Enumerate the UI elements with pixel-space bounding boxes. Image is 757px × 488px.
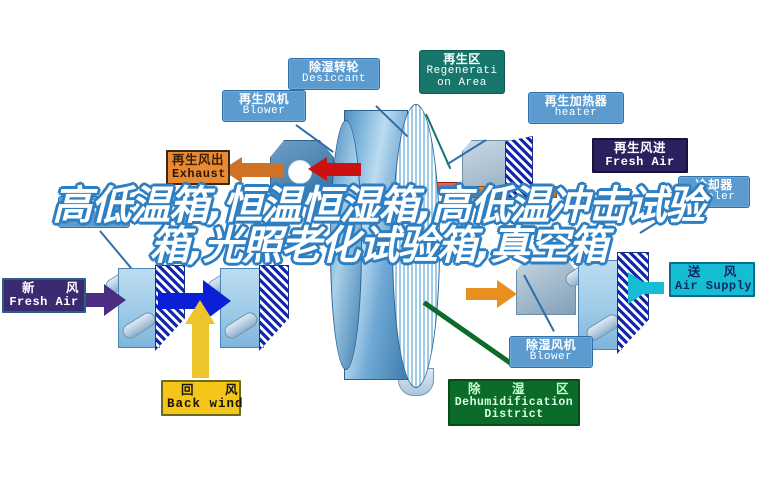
label-cooler-right-en: Cooler [683, 192, 745, 204]
label-dehumidification-blower-cn: 除湿风机 [514, 339, 588, 352]
label-dehumidification-district-cn: 除 湿 区 [454, 383, 574, 397]
label-desiccant-rotor-cn: 除湿转轮 [293, 61, 375, 74]
heater-mesh [505, 136, 533, 204]
exhaust-arrow-stem [240, 163, 284, 177]
label-regeneration-area-en2: on Area [424, 78, 500, 90]
blower-arrow-head [497, 280, 517, 308]
leader-dehum-district [423, 300, 513, 365]
regen-hot-arrow-head [308, 157, 327, 181]
label-desiccant-rotor-en: Desiccant [293, 74, 375, 86]
label-dehumidification-district[interactable]: 除 湿 区 Dehumidification District [448, 379, 580, 426]
label-fresh-air-cn: 新 风 [8, 282, 80, 296]
label-regeneration-heater[interactable]: 再生加热器 heater [528, 92, 624, 124]
label-fresh-air-en: Fresh Air [8, 296, 80, 309]
label-back-wind[interactable]: 回 风 Back wind [161, 380, 241, 416]
label-cooler-left[interactable]: 冷却器 Cooler [58, 196, 130, 228]
label-dehumidification-blower-en: Blower [514, 352, 588, 364]
label-air-supply-en: Air Supply [675, 280, 749, 293]
label-fresh-air[interactable]: 新 风 Fresh Air [2, 278, 86, 313]
regen-hot-arrow-stem [325, 163, 361, 176]
mesh-mid [259, 265, 289, 351]
label-regeneration-fresh-air[interactable]: 再生风进 Fresh Air [592, 138, 688, 173]
label-air-supply[interactable]: 送 风 Air Supply [669, 262, 755, 297]
label-dehumidification-blower[interactable]: 除湿风机 Blower [509, 336, 593, 368]
label-regeneration-fresh-air-cn: 再生风进 [598, 142, 682, 156]
leader-cooler-left [99, 230, 131, 268]
label-regeneration-blower[interactable]: 再生风机 Blower [222, 90, 306, 122]
label-exhaust-cn: 再生风出 [172, 154, 224, 168]
back-wind-arrow-stem [192, 320, 209, 378]
label-cooler-left-en: Cooler [63, 212, 125, 224]
label-cooler-left-cn: 冷却器 [63, 199, 125, 212]
air-supply-arrow-head [628, 272, 652, 304]
desiccant-rotor-hub [330, 120, 362, 370]
label-exhaust[interactable]: 再生风出 Exhaust [166, 150, 230, 185]
label-air-supply-cn: 送 风 [675, 266, 749, 280]
back-wind-arrow-head [185, 300, 215, 324]
label-dehumidification-district-en2: District [454, 409, 574, 421]
label-back-wind-cn: 回 风 [167, 384, 235, 398]
leader-cooler-right [639, 208, 679, 234]
label-regeneration-area-cn: 再生区 [424, 53, 500, 66]
label-regeneration-area[interactable]: 再生区 Regenerati on Area [419, 50, 505, 94]
label-regeneration-fresh-air-en: Fresh Air [598, 156, 682, 169]
blower-arrow-stem [466, 288, 500, 300]
label-regeneration-heater-cn: 再生加热器 [533, 95, 619, 108]
label-back-wind-en: Back wind [167, 398, 235, 412]
desiccant-rotor-face [392, 104, 440, 388]
label-desiccant-rotor[interactable]: 除湿转轮 Desiccant [288, 58, 380, 90]
label-exhaust-en: Exhaust [172, 168, 224, 181]
label-regeneration-blower-en: Blower [227, 106, 301, 118]
label-regeneration-blower-cn: 再生风机 [227, 93, 301, 106]
dehumidification-blower-housing [516, 255, 576, 315]
label-cooler-right[interactable]: 冷却器 Cooler [678, 176, 750, 208]
diagram-canvas: 除湿转轮 Desiccant 再生风机 Blower 再生区 Regenerat… [0, 0, 757, 488]
label-cooler-right-cn: 冷却器 [683, 179, 745, 192]
fresh-air-arrow-head [104, 284, 126, 316]
label-regeneration-heater-en: heater [533, 108, 619, 120]
